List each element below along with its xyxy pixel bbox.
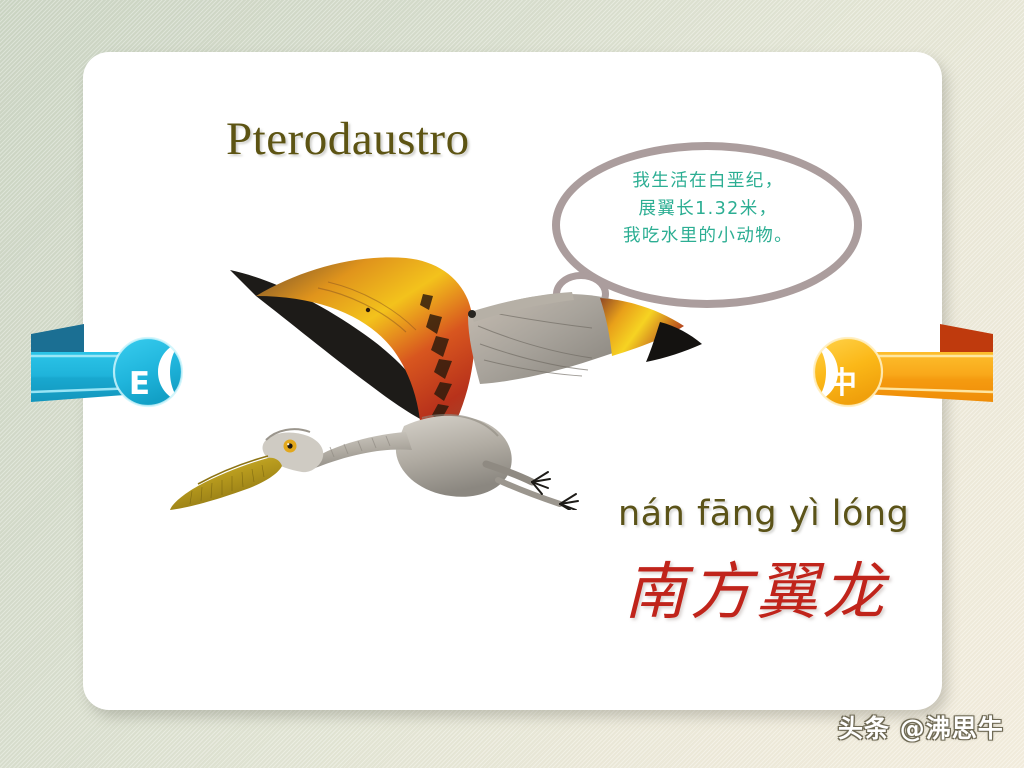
pinyin-label: nán fāng yì lóng [618, 495, 909, 534]
pterosaur-beak [170, 458, 282, 510]
pterosaur-foot-rear [560, 494, 578, 510]
chinese-name-label: 南方翼龙 [624, 556, 888, 627]
page-title: Pterodaustro [226, 116, 470, 163]
watermark: 头条 @沸思牛 [838, 716, 1004, 741]
ribbon-band-right [864, 352, 993, 402]
pterosaur-body [396, 416, 512, 497]
language-ribbon-chinese[interactable] [800, 322, 998, 418]
pterodaustro-illustration [168, 248, 716, 510]
pterosaur-foot-front [532, 472, 550, 494]
language-ribbon-english[interactable] [26, 322, 202, 418]
wing-claw-left [366, 308, 370, 312]
speech-bubble-text: 我生活在白垩纪， 展翼长1.32米， 我吃水里的小动物。 [560, 168, 856, 251]
slide-canvas: Pterodaustro 我生活在白垩纪， 展翼长1.32米， 我吃水里的小动物… [0, 0, 1024, 768]
wing-claw-right [468, 310, 476, 318]
